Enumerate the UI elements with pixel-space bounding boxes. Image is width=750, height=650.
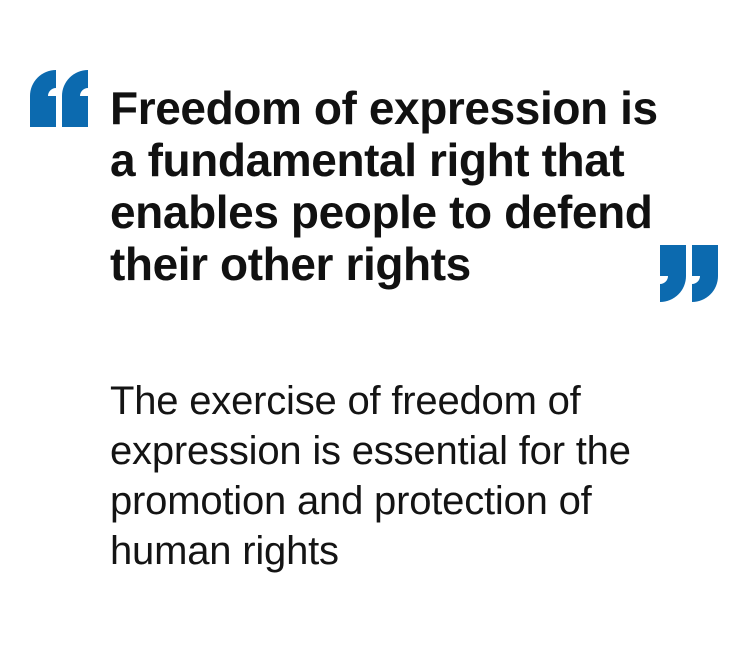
quote-subtext: The exercise of freedom of expression is…	[110, 376, 685, 576]
quote-text-block: Freedom of expression is a fundamental r…	[110, 82, 710, 290]
open-quote-icon	[30, 70, 88, 128]
quote-headline: Freedom of expression is a fundamental r…	[110, 82, 675, 290]
pull-quote-card: Freedom of expression is a fundamental r…	[0, 0, 750, 650]
